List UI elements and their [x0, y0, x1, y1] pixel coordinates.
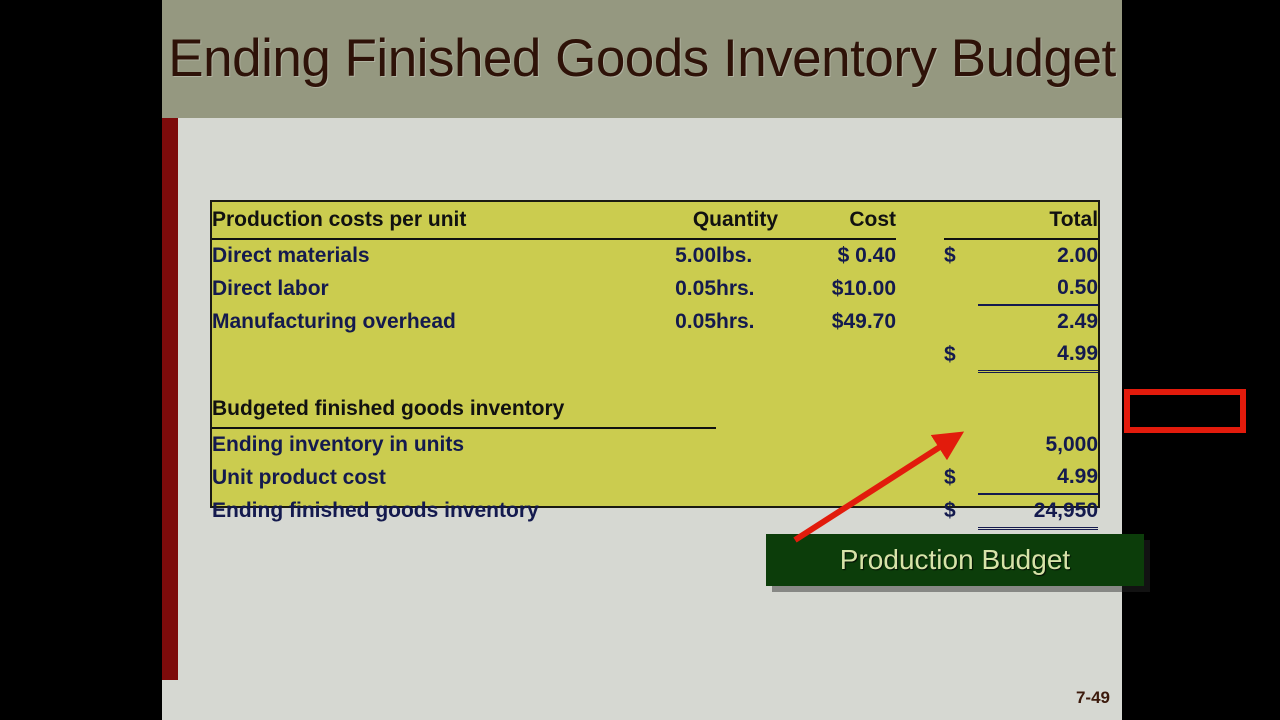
row-symbol-ending-inventory-units: [944, 428, 978, 461]
subtotal-spacer-cost: [778, 338, 896, 372]
table-row: Manufacturing overhead 0.05 hrs. $49.70 …: [212, 305, 1098, 338]
table-header-row: Production costs per unit Quantity Cost …: [212, 202, 1098, 239]
budget-table-grid: Production costs per unit Quantity Cost …: [212, 202, 1098, 530]
table-row: Ending inventory in units 5,000: [212, 428, 1098, 461]
table-row: Direct labor 0.05 hrs. $10.00 0.50: [212, 272, 1098, 305]
subtotal-spacer-label: [212, 338, 630, 372]
left-accent-bar: [162, 118, 178, 680]
row-cost-direct-materials: $ 0.40: [778, 239, 896, 272]
page-title: Ending Finished Goods Inventory Budget: [162, 0, 1122, 118]
table-row: Ending finished goods inventory $ 24,950: [212, 494, 1098, 529]
row-cost-manufacturing-overhead: $49.70: [778, 305, 896, 338]
row-spacer-cost: [778, 494, 896, 529]
row-gap-cell: [896, 461, 944, 494]
row-gap-cell: [896, 428, 944, 461]
row-total-direct-labor: 0.50: [978, 272, 1098, 305]
slide-title-band: Ending Finished Goods Inventory Budget: [162, 0, 1122, 118]
row-spacer-qty: [630, 428, 716, 461]
row-total-symbol-direct-labor: [944, 272, 978, 305]
page-number: 7-49: [1042, 688, 1110, 708]
header-gap-cell: [896, 202, 944, 239]
row-gap-cell: [896, 305, 944, 338]
row-uom-manufacturing-overhead: hrs.: [716, 305, 778, 338]
subtotal-spacer-uom: [716, 338, 778, 372]
table-row: Unit product cost $ 4.99: [212, 461, 1098, 494]
subtotal-spacer-qty: [630, 338, 716, 372]
row-value-ending-finished-goods-inventory: 24,950: [978, 494, 1098, 529]
row-label-ending-inventory-units: Ending inventory in units: [212, 428, 630, 461]
row-label-manufacturing-overhead: Manufacturing overhead: [212, 305, 630, 338]
unit-cost-subtotal-row: $ 4.99: [212, 338, 1098, 372]
row-total-manufacturing-overhead: 2.49: [978, 305, 1098, 338]
column-header-total: Total: [944, 202, 1098, 239]
row-spacer-uom: [716, 461, 778, 494]
row-label-unit-product-cost: Unit product cost: [212, 461, 630, 494]
row-quantity-direct-materials: 5.00: [630, 239, 716, 272]
budget-table: Production costs per unit Quantity Cost …: [210, 200, 1100, 508]
highlight-box-ending-inventory-units: [1124, 389, 1246, 433]
column-header-quantity: Quantity: [630, 202, 778, 239]
unit-cost-subtotal-value: 4.99: [978, 338, 1098, 372]
table-spacer-cell: [212, 372, 1098, 392]
row-value-ending-inventory-units: 5,000: [978, 428, 1098, 461]
row-gap-cell: [896, 272, 944, 305]
row-spacer-uom: [716, 494, 778, 529]
row-label-direct-materials: Direct materials: [212, 239, 630, 272]
callout-label: Production Budget: [766, 534, 1144, 586]
row-uom-direct-materials: lbs.: [716, 239, 778, 272]
row-cost-direct-labor: $10.00: [778, 272, 896, 305]
slide: Ending Finished Goods Inventory Budget P…: [162, 0, 1122, 720]
row-symbol-ending-finished-goods-inventory: $: [944, 494, 978, 529]
row-total-symbol-manufacturing-overhead: [944, 305, 978, 338]
table-row: Direct materials 5.00 lbs. $ 0.40 $ 2.00: [212, 239, 1098, 272]
row-spacer-uom: [716, 428, 778, 461]
row-label-ending-finished-goods-inventory: Ending finished goods inventory: [212, 494, 630, 529]
row-spacer-qty: [630, 494, 716, 529]
inventory-section-header-row: Budgeted finished goods inventory: [212, 391, 1098, 428]
row-label-direct-labor: Direct labor: [212, 272, 630, 305]
row-spacer-qty: [630, 461, 716, 494]
callout-production-budget[interactable]: Production Budget: [766, 534, 1144, 586]
row-spacer-cost: [778, 428, 896, 461]
row-total-direct-materials: 2.00: [978, 239, 1098, 272]
column-header-cost: Cost: [778, 202, 896, 239]
column-header-label: Production costs per unit: [212, 202, 630, 239]
row-quantity-direct-labor: 0.05: [630, 272, 716, 305]
row-value-unit-product-cost: 4.99: [978, 461, 1098, 494]
table-spacer-row: [212, 372, 1098, 392]
row-symbol-unit-product-cost: $: [944, 461, 978, 494]
row-quantity-manufacturing-overhead: 0.05: [630, 305, 716, 338]
row-gap-cell: [896, 494, 944, 529]
unit-cost-subtotal-symbol: $: [944, 338, 978, 372]
subtotal-gap-cell: [896, 338, 944, 372]
row-uom-direct-labor: hrs.: [716, 272, 778, 305]
row-spacer-cost: [778, 461, 896, 494]
inventory-section-header: Budgeted finished goods inventory: [212, 391, 716, 428]
row-total-symbol-direct-materials: $: [944, 239, 978, 272]
row-gap-cell: [896, 239, 944, 272]
inventory-header-gap: [716, 391, 1098, 428]
